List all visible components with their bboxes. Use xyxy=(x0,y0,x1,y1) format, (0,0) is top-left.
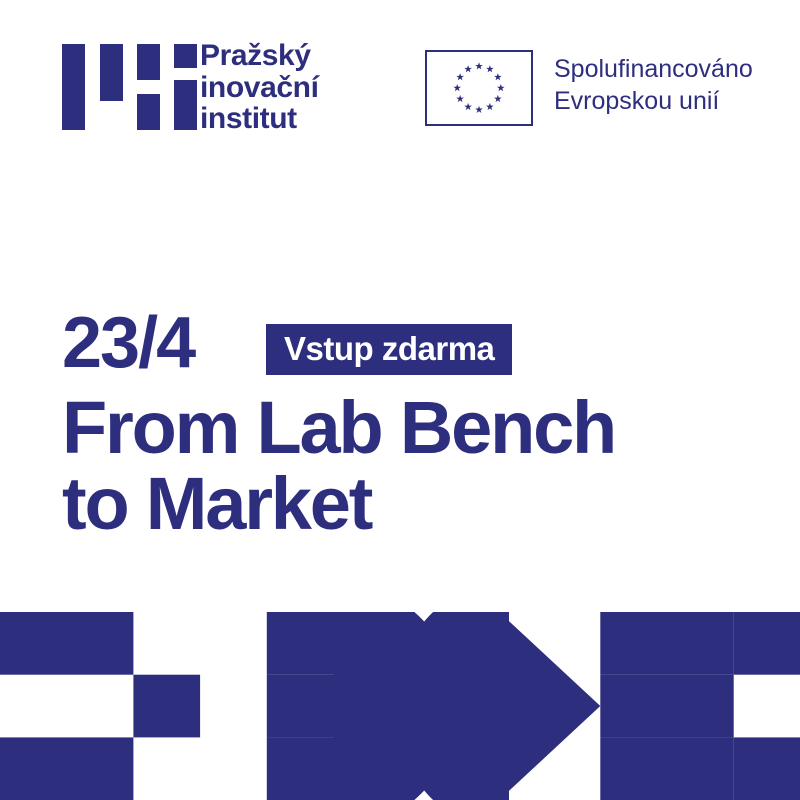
pattern-d-stem-mid xyxy=(267,675,334,738)
event-title-line-1: From Lab Bench xyxy=(62,390,762,466)
pattern-square xyxy=(0,737,133,800)
pattern-d-stem-top xyxy=(267,612,334,675)
main-content: 23/4 Vstup zdarma From Lab Bench to Mark… xyxy=(0,0,800,600)
event-title: From Lab Bench to Market xyxy=(62,390,762,542)
pattern-square xyxy=(133,675,200,738)
event-date: 23/4 xyxy=(62,308,194,378)
pattern-block-bottom xyxy=(600,737,733,800)
pattern-square xyxy=(734,737,800,800)
pattern-block-top xyxy=(600,612,733,675)
event-title-line-2: to Market xyxy=(62,466,762,542)
decorative-geometric-pattern xyxy=(0,612,800,800)
pattern-square xyxy=(667,675,734,738)
pattern-block-mid xyxy=(600,675,667,738)
pattern-d-stem-bottom xyxy=(267,737,334,800)
free-entry-badge: Vstup zdarma xyxy=(266,324,512,375)
pattern-square xyxy=(734,612,800,675)
pattern-svg xyxy=(0,612,800,800)
pattern-triangle-right xyxy=(467,612,600,800)
pattern-square xyxy=(0,612,133,675)
